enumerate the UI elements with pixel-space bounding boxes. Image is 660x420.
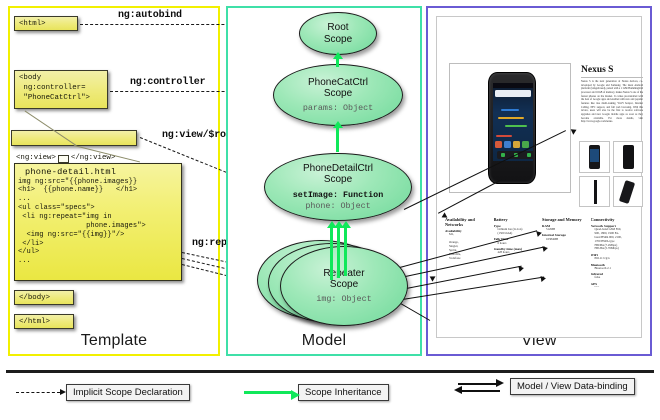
tag-html-open: <html> <box>14 16 78 31</box>
thumb-angled-icon <box>618 179 634 203</box>
spec-val-ram: 512MB <box>542 228 589 232</box>
diagram-canvas: Template <html> <body ng:controller= "Ph… <box>0 0 660 420</box>
spec-head-connectivity: Connectivity <box>591 217 638 222</box>
view-page-title: Nexus S <box>581 65 613 75</box>
phone-status-bar <box>493 83 533 88</box>
inherit-cat-to-root <box>336 59 339 67</box>
file-callout-phone-detail: phone-detail.html img ng:src="{{phone.im… <box>14 163 182 281</box>
legend-item-data-binding: Model / View Data-binding <box>454 378 635 395</box>
spec-head-battery: Battery <box>494 217 541 222</box>
scope-phonedetailctrl[interactable]: PhoneDetailCtrlScope setImage: Function … <box>264 153 412 221</box>
screen-decor-2 <box>498 117 524 119</box>
ngview-placeholder-icon <box>58 155 69 163</box>
bind-repeater-to-thumb-2-arrow <box>542 245 548 252</box>
double-arrow-top-line <box>458 383 500 385</box>
legend: Implicit Scope Declaration Scope Inherit… <box>6 381 654 407</box>
spec-val-internal-storage: 16384MB <box>542 238 589 242</box>
phone-search-bar <box>495 90 531 97</box>
inherit-repeater-c <box>344 228 347 276</box>
app-icon-3 <box>513 141 520 148</box>
screen-decor-1 <box>501 109 519 111</box>
screen-decor-4 <box>496 135 512 137</box>
view-description-text: Nexus S is the next generation of Nexus … <box>581 80 643 136</box>
spec-val-battery-talk: 6 hours <box>494 242 541 246</box>
thumbnail-side[interactable] <box>579 176 610 208</box>
double-arrow-icon <box>454 380 504 394</box>
dashed-arrow-icon <box>16 392 60 393</box>
spec-column-storage: Storage and Memory RAM 512MB Internal St… <box>542 217 589 287</box>
legend-label-implicit-scope: Implicit Scope Declaration <box>66 384 190 401</box>
phone-hero-image <box>449 63 571 193</box>
nav-dot-1 <box>501 153 505 157</box>
scope-root-title: RootScope <box>324 22 352 44</box>
panel-template-label: Template <box>10 332 218 350</box>
panel-model-label: Model <box>228 332 420 350</box>
app-icon-1 <box>495 141 502 148</box>
screen-decor-3 <box>505 125 527 127</box>
scope-phonecatctrl[interactable]: PhoneCatCtrlScope params: Object <box>273 64 403 126</box>
spec-val-wifi: 802.11 b/g/n <box>591 257 638 261</box>
inherit-repeater-b <box>337 228 340 278</box>
thumb-front-icon <box>589 145 600 169</box>
legend-item-scope-inheritance: Scope Inheritance <box>244 384 389 401</box>
phone-app-icons <box>495 141 529 148</box>
tag-body-open: <body ng:controller= "PhoneCatCtrl"> <box>14 70 108 109</box>
green-arrow-icon <box>244 391 292 394</box>
label-ng-controller: ng:controller <box>130 77 205 88</box>
spec-val-network: Quad-band GSM 850, 900, 1800, 1900 En- b… <box>591 228 638 251</box>
file-name-label: phone-detail.html <box>15 164 181 178</box>
inherit-cat-to-root-arrow <box>333 52 343 59</box>
scope-phonecatctrl-title: PhoneCatCtrlScope <box>308 77 368 99</box>
spec-val-gps: true <box>591 286 638 287</box>
double-arrow-right-head <box>496 379 504 387</box>
thumb-back-icon <box>623 145 634 169</box>
nav-dot-3 <box>527 153 531 157</box>
spec-val-infrared: false <box>591 276 638 280</box>
spec-head-availability: Availability and Networks <box>445 217 492 228</box>
thumbnail-angled[interactable] <box>613 176 644 208</box>
tag-html-close: </html> <box>14 314 74 329</box>
legend-label-scope-inheritance: Scope Inheritance <box>298 384 389 401</box>
view-title-divider <box>581 77 643 78</box>
inherit-detail-to-cat-arrow <box>333 121 343 128</box>
inherit-repeater-a <box>330 228 333 280</box>
legend-item-implicit-scope: Implicit Scope Declaration <box>16 384 190 401</box>
scope-repeater-prop: img: Object <box>316 294 371 304</box>
legend-label-data-binding: Model / View Data-binding <box>510 378 635 395</box>
spec-val-bluetooth: Bluetooth 2.1 <box>591 267 638 271</box>
legend-divider <box>6 370 654 373</box>
file-code-block: img ng:src="{{phone.images}} <h1> {{phon… <box>15 178 181 267</box>
scope-phonedetailctrl-title: PhoneDetailCtrlScope <box>303 163 373 185</box>
thumb-side-icon <box>594 180 597 204</box>
app-icon-2 <box>504 141 511 148</box>
app-icon-4 <box>522 141 529 148</box>
double-arrow-bottom-line <box>458 390 500 392</box>
label-ng-autobind: ng:autobind <box>118 10 182 21</box>
spec-val-availability: M1, Orange, Singtel, Sprint, T-Mobile, V… <box>445 233 492 260</box>
inherit-detail-to-cat <box>336 128 339 152</box>
scope-phonedetailctrl-prop-setimage: setImage: Function <box>293 190 383 200</box>
scope-phonecatctrl-prop: params: Object <box>303 103 373 113</box>
scope-root[interactable]: RootScope <box>299 12 377 55</box>
thumbnail-front[interactable] <box>579 141 610 173</box>
thumbnail-back[interactable] <box>613 141 644 173</box>
scope-phonedetailctrl-prop-phone: phone: Object <box>305 201 370 211</box>
spec-head-storage: Storage and Memory <box>542 217 589 222</box>
spec-column-connectivity: Connectivity Network Support Quad-band G… <box>591 217 638 287</box>
bind-repeater-to-thumb-4-arrow <box>541 275 547 282</box>
tag-body-close: </body> <box>14 290 74 305</box>
bind-repeater-to-thumb-3-arrow <box>518 265 524 272</box>
double-arrow-left-head <box>454 386 462 394</box>
inherit-repeater-c-arrow <box>341 221 351 228</box>
phone-thumbnail-grid <box>579 141 643 207</box>
phone-device-illustration <box>488 72 536 184</box>
